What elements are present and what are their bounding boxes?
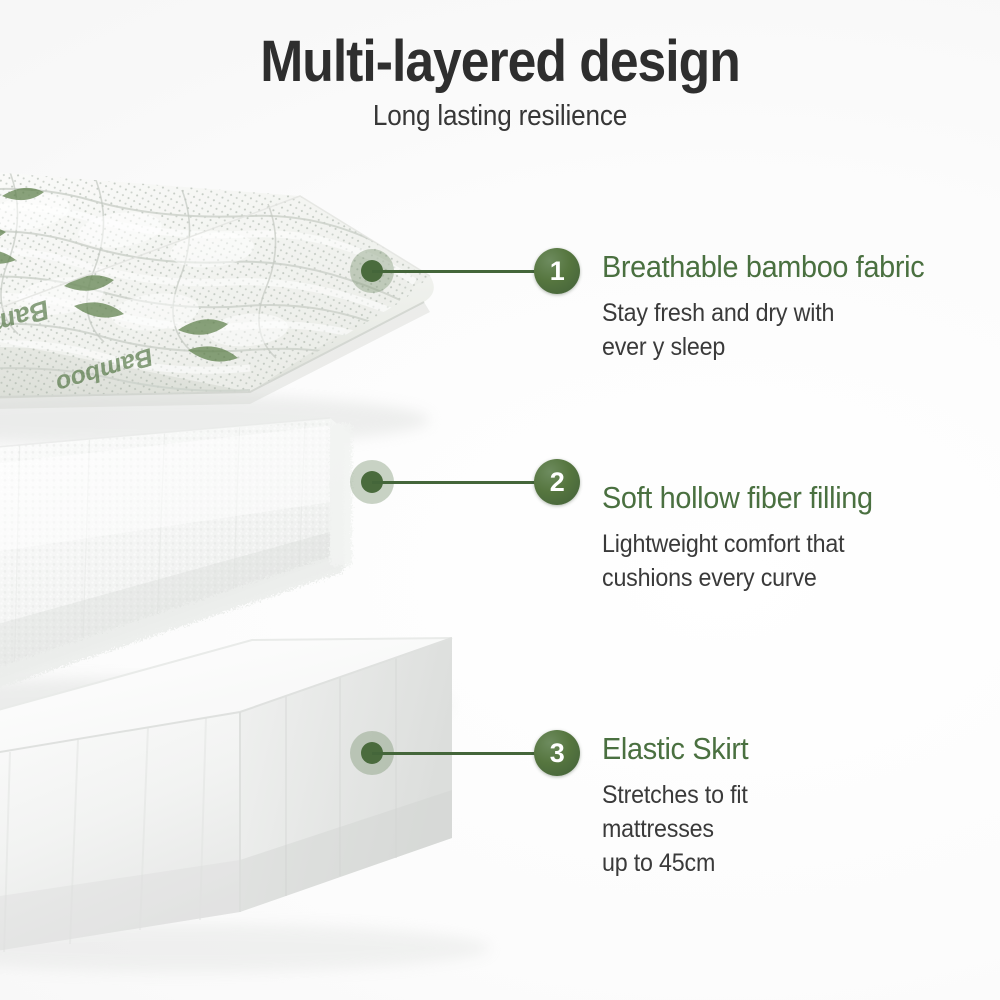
leader-line-1 [372,270,557,273]
step-badge-2[interactable]: 2 [534,459,580,505]
callout-3-text: Elastic Skirt Stretches to fit mattresse… [602,731,759,880]
callout-2-title: Soft hollow fiber filling [602,480,873,516]
callout-1-title: Breathable bamboo fabric [602,249,924,285]
leader-line-2 [372,481,557,484]
callout-2-text: Soft hollow fiber filling Lightweight co… [602,480,893,595]
page-subtitle: Long lasting resilience [50,100,950,133]
callout-2-description: Lightweight comfort that cushions every … [602,527,873,595]
page-title: Multi-layered design [55,32,945,91]
quilted-bamboo-top-layer: Bamboo Bamboo [0,160,460,410]
product-illustration: Bamboo Bamboo [0,0,560,1000]
callout-1-description: Stay fresh and dry with ever y sleep [602,296,924,364]
header-block: Multi-layered design Long lasting resili… [0,32,1000,133]
callout-1-text: Breathable bamboo fabric Stay fresh and … [602,249,949,364]
callout-3-title: Elastic Skirt [602,731,748,767]
step-badge-3[interactable]: 3 [534,730,580,776]
infographic-canvas: Multi-layered design Long lasting resili… [0,0,1000,1000]
callout-3-description: Stretches to fit mattresses up to 45cm [602,778,748,880]
leader-line-3 [372,752,557,755]
step-badge-1[interactable]: 1 [534,248,580,294]
